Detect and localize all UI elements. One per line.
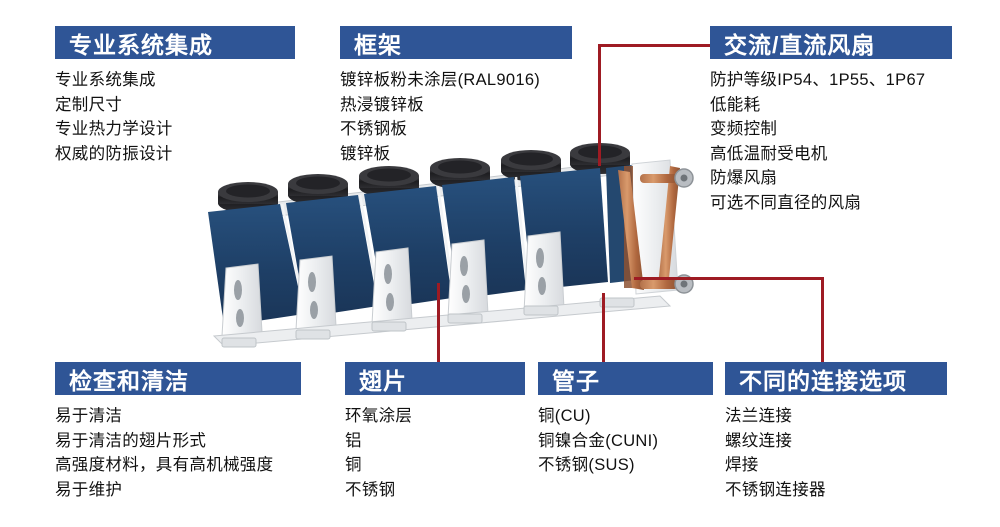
list-item: 焊接: [725, 453, 947, 478]
list-item: 可选不同直径的风扇: [710, 191, 952, 216]
list-item: 镀锌板粉未涂层(RAL9016): [340, 68, 572, 93]
list-item: 法兰连接: [725, 404, 947, 429]
list-item: 防爆风扇: [710, 166, 952, 191]
list-item: 定制尺寸: [55, 93, 295, 118]
list-item: 不锈钢连接器: [725, 478, 947, 503]
list-item: 铝: [345, 429, 525, 454]
list-item: 易于维护: [55, 478, 301, 503]
panel-header-clean: 检查和清洁: [55, 362, 301, 395]
list-item: 环氧涂层: [345, 404, 525, 429]
panel-header-fan: 交流/直流风扇: [710, 26, 952, 59]
panel-body-fin: 环氧涂层 铝 铜 不锈钢: [345, 404, 525, 502]
list-item: 防护等级IP54、1P55、1P67: [710, 68, 952, 93]
leader-line-fan-horizontal: [598, 44, 712, 47]
callout-panel-fan: 交流/直流风扇 防护等级IP54、1P55、1P67 低能耗 变频控制 高低温耐…: [710, 26, 952, 215]
callout-panel-clean: 检查和清洁 易于清洁 易于清洁的翅片形式 高强度材料，具有高机械强度 易于维护: [55, 362, 301, 502]
panel-header-fin: 翅片: [345, 362, 525, 395]
leader-line-tube: [602, 293, 605, 365]
list-item: 铜(CU): [538, 404, 713, 429]
panel-header-integration: 专业系统集成: [55, 26, 295, 59]
list-item: 变频控制: [710, 117, 952, 142]
leader-line-fin: [437, 283, 440, 365]
panel-body-integration: 专业系统集成 定制尺寸 专业热力学设计 权威的防振设计: [55, 68, 295, 166]
list-item: 低能耗: [710, 93, 952, 118]
list-item: 易于清洁的翅片形式: [55, 429, 301, 454]
list-item: 不锈钢(SUS): [538, 453, 713, 478]
list-item: 热浸镀锌板: [340, 93, 572, 118]
list-item: 专业系统集成: [55, 68, 295, 93]
list-item: 专业热力学设计: [55, 117, 295, 142]
list-item: 高强度材料，具有高机械强度: [55, 453, 301, 478]
leader-line-connection-vertical: [821, 277, 824, 365]
list-item: 不锈钢: [345, 478, 525, 503]
panel-header-connection: 不同的连接选项: [725, 362, 947, 395]
list-item: 铜镍合金(CUNI): [538, 429, 713, 454]
list-item: 易于清洁: [55, 404, 301, 429]
list-item: 铜: [345, 453, 525, 478]
panel-body-frame: 镀锌板粉未涂层(RAL9016) 热浸镀锌板 不锈钢板 镀锌板: [340, 68, 572, 166]
panel-header-frame: 框架: [340, 26, 572, 59]
list-item: 高低温耐受电机: [710, 142, 952, 167]
panel-header-tube: 管子: [538, 362, 713, 395]
list-item: 螺纹连接: [725, 429, 947, 454]
callout-panel-fin: 翅片 环氧涂层 铝 铜 不锈钢: [345, 362, 525, 502]
dry-cooler-product-image: [200, 140, 760, 365]
copper-header-assembly: [618, 160, 693, 294]
list-item: 权威的防振设计: [55, 142, 295, 167]
panel-body-connection: 法兰连接 螺纹连接 焊接 不锈钢连接器: [725, 404, 947, 502]
panel-body-clean: 易于清洁 易于清洁的翅片形式 高强度材料，具有高机械强度 易于维护: [55, 404, 301, 502]
leader-line-fan-vertical: [598, 44, 601, 166]
panel-body-tube: 铜(CU) 铜镍合金(CUNI) 不锈钢(SUS): [538, 404, 713, 478]
callout-panel-tube: 管子 铜(CU) 铜镍合金(CUNI) 不锈钢(SUS): [538, 362, 713, 478]
list-item: 镀锌板: [340, 142, 572, 167]
callout-panel-integration: 专业系统集成 专业系统集成 定制尺寸 专业热力学设计 权威的防振设计: [55, 26, 295, 166]
infographic-canvas: 专业系统集成 专业系统集成 定制尺寸 专业热力学设计 权威的防振设计 框架 镀锌…: [0, 0, 1000, 527]
callout-panel-connection: 不同的连接选项 法兰连接 螺纹连接 焊接 不锈钢连接器: [725, 362, 947, 502]
list-item: 不锈钢板: [340, 117, 572, 142]
callout-panel-frame: 框架 镀锌板粉未涂层(RAL9016) 热浸镀锌板 不锈钢板 镀锌板: [340, 26, 572, 166]
leader-line-connection-horizontal: [634, 277, 824, 280]
panel-body-fan: 防护等级IP54、1P55、1P67 低能耗 变频控制 高低温耐受电机 防爆风扇…: [710, 68, 952, 215]
